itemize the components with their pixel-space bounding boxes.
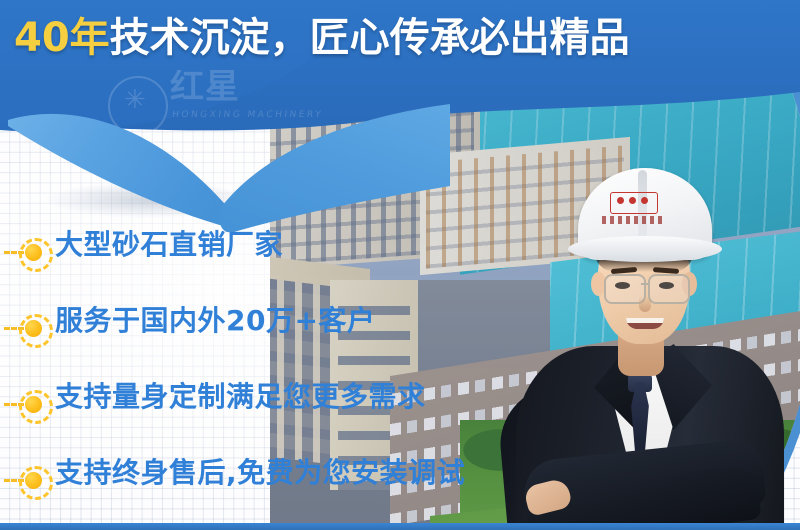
list-item-label: 支持终身售后,免费为您安装调试 xyxy=(55,452,465,494)
feature-list: 大型砂石直销厂家 服务于国内外20万+客户 支持量身定制满足您更多需求 支持终身… xyxy=(0,222,470,526)
promo-banner: 红星 HONGXING MACHINERY 40年技术沉淀，匠心传承必出精品 大… xyxy=(0,0,800,530)
page-title: 40年技术沉淀，匠心传承必出精品 xyxy=(14,18,630,58)
sun-dot-icon xyxy=(4,236,48,270)
hard-hat-logo-icon xyxy=(610,192,658,214)
sun-dot-icon xyxy=(4,388,48,422)
list-item[interactable]: 大型砂石直销厂家 xyxy=(0,222,470,298)
person-nose xyxy=(639,296,651,312)
bottom-accent-bar xyxy=(0,523,800,530)
list-item[interactable]: 支持量身定制满足您更多需求 xyxy=(0,374,470,450)
list-item[interactable]: 支持终身售后,免费为您安装调试 xyxy=(0,450,470,526)
list-item-label: 支持量身定制满足您更多需求 xyxy=(55,376,426,418)
headline-years: 40年 xyxy=(14,15,110,61)
hard-hat-logo-text xyxy=(602,216,666,224)
person-teeth xyxy=(626,318,664,323)
headline-rest: 技术沉淀，匠心传承必出精品 xyxy=(110,15,630,61)
person-glasses-lens-right xyxy=(648,274,690,304)
engineer-portrait xyxy=(498,150,798,530)
person-glasses-bridge xyxy=(641,283,650,285)
list-item-label: 大型砂石直销厂家 xyxy=(55,224,283,266)
hard-hat-brim xyxy=(568,236,722,262)
list-item-label: 服务于国内外20万+客户 xyxy=(55,300,375,342)
sun-dot-icon xyxy=(4,464,48,498)
person-mouth xyxy=(626,318,664,329)
list-item[interactable]: 服务于国内外20万+客户 xyxy=(0,298,470,374)
sun-dot-icon xyxy=(4,312,48,346)
